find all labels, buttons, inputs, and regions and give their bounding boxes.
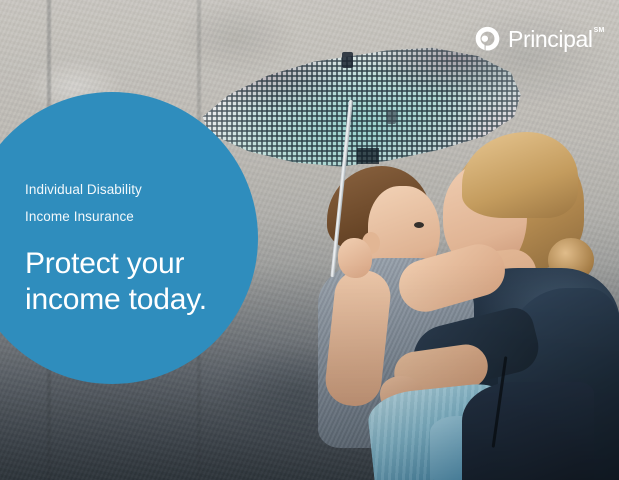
principal-logo[interactable]: Principal SM — [474, 24, 605, 54]
banner-copy: Individual Disability Income Insurance P… — [25, 176, 260, 318]
eyebrow-line-2: Income Insurance — [25, 203, 260, 230]
headline: Protect your income today. — [25, 246, 260, 318]
service-mark: SM — [594, 27, 605, 34]
principal-wordmark: Principal — [508, 28, 593, 51]
headline-line-2: income today. — [25, 282, 260, 318]
principal-p-circle-icon — [474, 26, 501, 53]
umbrella-runner — [387, 110, 396, 124]
marketing-banner: Individual Disability Income Insurance P… — [0, 0, 619, 480]
headline-line-1: Protect your — [25, 246, 260, 282]
umbrella-dark-patch — [357, 148, 379, 164]
eyebrow-line-1: Individual Disability — [25, 176, 260, 203]
